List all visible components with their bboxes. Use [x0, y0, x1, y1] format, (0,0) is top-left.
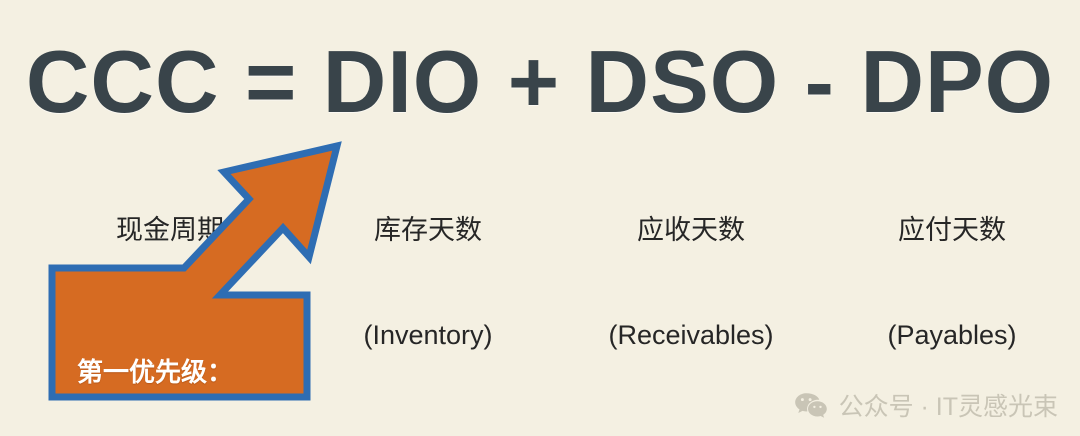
formula-title: CCC = DIO + DSO - DPO: [0, 36, 1080, 128]
watermark: 公众号 · IT灵感光束: [794, 392, 1058, 422]
term-label-dio-cn: 库存天数: [318, 213, 538, 248]
slide-canvas: CCC = DIO + DSO - DPO 现金周期 库存天数 (Invento…: [0, 0, 1080, 436]
term-label-dso-en: (Receivables): [576, 318, 806, 353]
wechat-icon: [794, 392, 828, 422]
term-label-dio: 库存天数 (Inventory): [318, 143, 538, 423]
term-label-dso-cn: 应收天数: [576, 213, 806, 248]
term-label-dpo-en: (Payables): [842, 318, 1062, 353]
callout-text: 第一优先级： 先降库存/在制: [77, 277, 302, 436]
term-label-dpo-cn: 应付天数: [842, 213, 1062, 248]
term-label-ccc-cn: 现金周期: [60, 213, 280, 248]
callout-text-line1: 第一优先级：: [77, 353, 302, 391]
term-label-dso: 应收天数 (Receivables): [576, 143, 806, 423]
term-label-dpo: 应付天数 (Payables): [842, 143, 1062, 423]
watermark-text: 公众号 · IT灵感光束: [839, 392, 1058, 422]
term-label-dio-en: (Inventory): [318, 318, 538, 353]
